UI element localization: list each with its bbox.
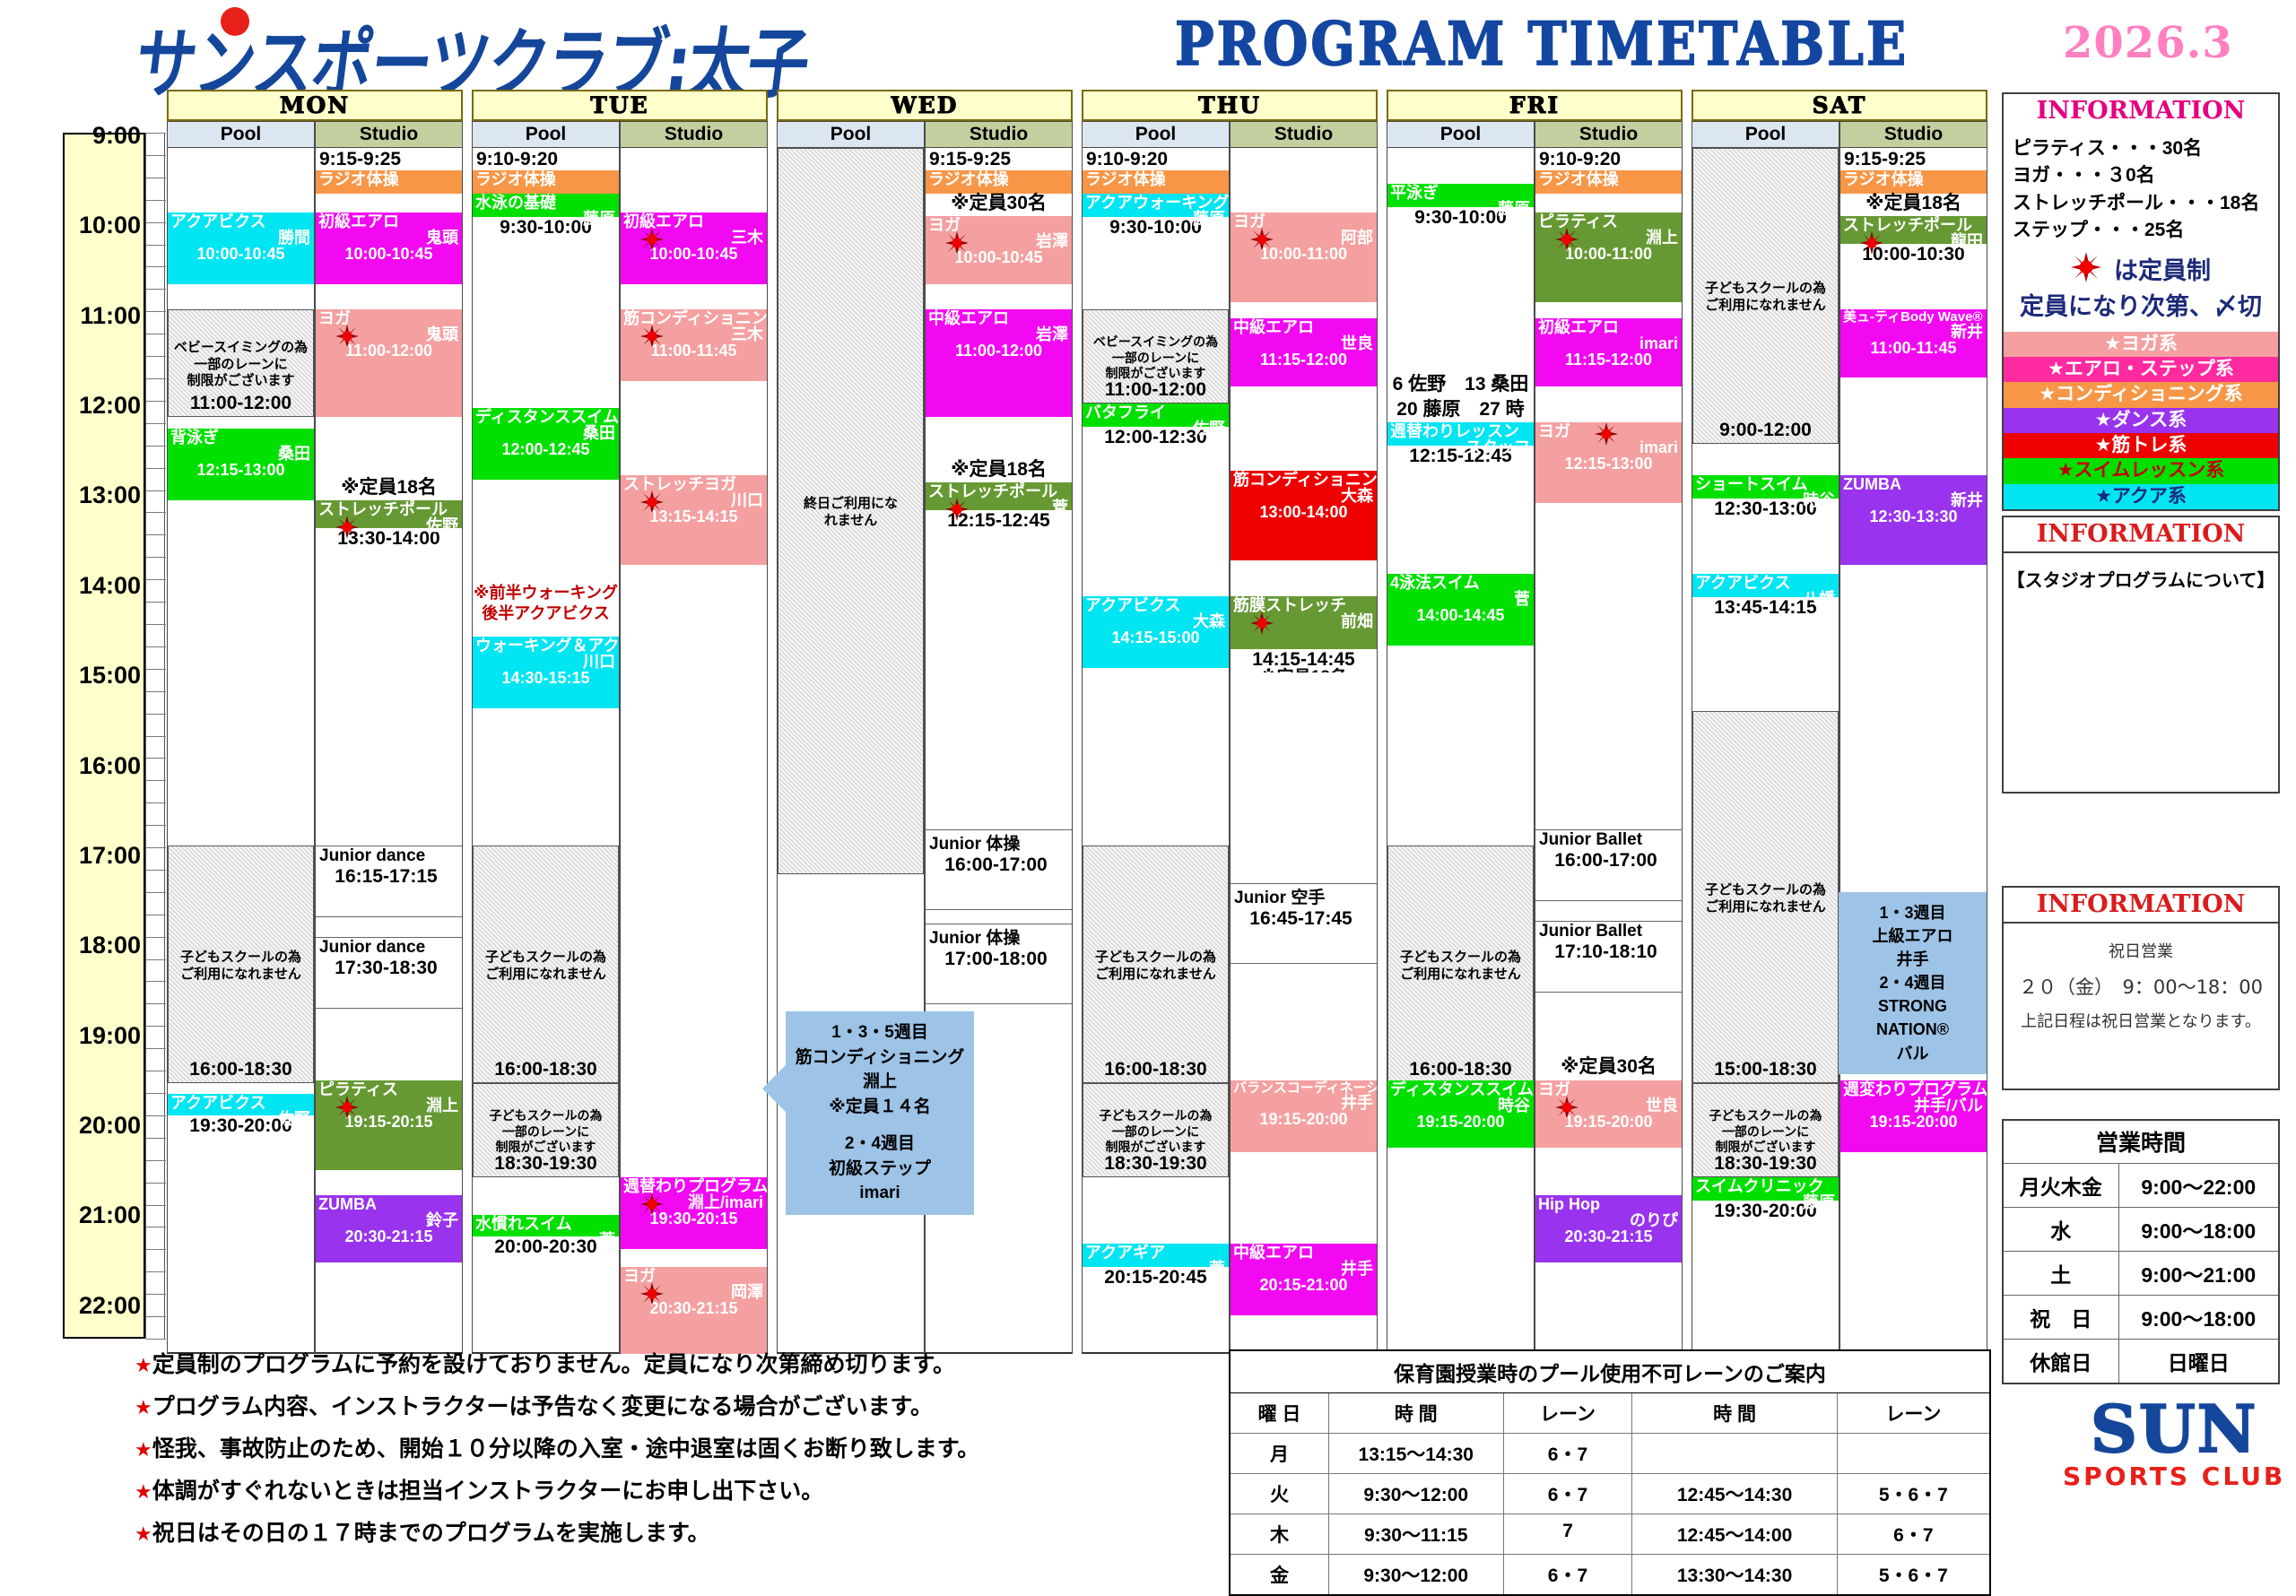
pool-subheader: Pool [1082,121,1230,148]
unavailable-time: 16:00-18:30 [1083,1060,1228,1079]
program-block: ストレッチポール菅12:15-12:45 [926,482,1072,533]
time-tick [146,736,166,737]
program-block: アクアビクス佐野19:30-20:00 [168,1094,314,1139]
sun-mark-icon [2071,252,2101,291]
time-tick [146,468,166,469]
studio-subheader: Studio [620,121,768,148]
hours-days: 月火木金 [2004,1164,2119,1207]
callout-line: imari [791,1181,969,1206]
capacity-sun-icon [640,228,664,251]
program-color-box: 水慣れスイム菅 [473,1215,619,1236]
unavailable-time: 9:00-12:00 [1693,421,1838,439]
program-time: 20:30-21:15 [1535,1228,1682,1245]
program-color-box: ヨガ岩澤10:00-10:45 [926,216,1072,284]
time-tick [146,802,166,803]
time-tick [146,847,166,848]
legend-item: ★ダンス系 [2004,408,2278,433]
lane-table-cell: 5・6・7 [1838,1474,1989,1514]
program-time: 12:30-13:30 [1840,508,1987,525]
lane-table-cell: 6・7 [1504,1474,1633,1514]
capacity-list-item: ストレッチポール・・・18名 [2013,190,2278,217]
callout-line: 淵上 [791,1070,969,1095]
holiday-date-hours: ２０（金） 9：00〜18：00 [2009,968,2273,1006]
time-tick [146,1271,166,1272]
instructor-name: 藤原 [1083,211,1229,227]
program-time: 14:15-15:00 [1083,629,1229,646]
lane-table-cell: 12:45〜14:00 [1632,1514,1837,1554]
program-color-box: アクアビクス勝間10:00-10:45 [168,213,314,284]
time-tick [146,423,166,424]
radio-exercise-time: 9:15-9:25 [926,148,1072,170]
time-tick [146,1160,166,1161]
pool-memo: ※前半ウォーキング 後半アクアビクス [473,583,619,637]
instructor-rotation: 6 佐野 13 桑田20 藤原 27 時谷 [1387,372,1534,422]
info-panel-capacity: INFORMATION ピラティス・・・30名ヨガ・・・３0名ストレッチポール・… [2002,92,2280,511]
instructor-name: 井手 [1231,1261,1377,1277]
legend-item: ★ヨガ系 [2004,332,2278,357]
day-column-mon: MONPoolStudioアクアビクス勝間10:00-10:45ベビースイミング… [167,90,463,1354]
unavailable-time: 18:30-19:30 [1083,1154,1228,1173]
studio-program-note: 【スタジオプログラムについて】 [2004,551,2278,604]
program-color-box: 初級エアロ鬼頭10:00-10:45 [316,213,462,284]
pool-unavailable-block: 子どもスクールの為 ご利用になれません15:00-18:30 [1692,711,1839,1083]
program-name: アクアウォーキング [1083,194,1229,211]
hours-value: 9:00〜18:00 [2119,1208,2278,1251]
capacity-sun-icon [1595,422,1618,446]
instructor-name: 大森 [1083,613,1229,629]
time-label: 20:00 [65,1112,147,1140]
program-block: ピラティス淵上10:00-11:00※定員30名 [1535,213,1682,302]
program-color-box: ストレッチヨガ川口13:15-14:15 [621,475,767,565]
lane-table-cell: 6・7 [1504,1555,1633,1594]
program-color-box: アクアギア菅 [1083,1244,1229,1267]
day-column-fri: FRIPoolStudio平泳ぎ藤原9:30-10:006 佐野 13 桑田20… [1387,90,1683,1354]
instructor-name: 藤原 [1692,1194,1839,1210]
pool-unavailable-block: 終日ご利用にな れません [778,148,924,874]
time-label: 18:00 [65,932,147,959]
day-header: TUE [472,90,768,121]
time-tick [146,669,166,670]
program-time: 11:15-12:00 [1535,351,1682,368]
hours-days: 土 [2004,1252,2119,1295]
program-name: 筋コンディショニング [1231,471,1377,488]
capacity-list: ピラティス・・・30名ヨガ・・・３0名ストレッチポール・・・18名ステップ・・・… [2004,128,2278,248]
program-block: ZUMBA鈴子20:30-21:15 [316,1195,462,1262]
program-block: ディスタンススイム時谷19:15-20:00 [1387,1080,1534,1148]
star-icon: ★ [135,1354,152,1376]
program-block: 美ュ-ティBody Wave®新井11:00-11:45 [1840,309,1987,377]
capacity-note: ※定員18名 [316,475,462,500]
capacity-note: ※定員18名 [1840,191,1987,216]
footer-note: ★定員制のプログラムに予約を設けておりません。定員になり次第締め切ります。 [135,1354,1193,1376]
program-name: 中級エアロ [1231,318,1377,335]
junior-class-time: 17:30-18:30 [316,958,462,979]
star-icon: ★ [135,1438,152,1461]
instructor-name: 井手/バル [1840,1097,1987,1114]
capacity-sun-icon [1555,228,1578,251]
program-block: ラジオ体操 [473,170,619,194]
program-color-box: 初級エアロimari11:15-12:00 [1535,318,1682,386]
program-color-box: ピラティス淵上10:00-11:00 [1535,213,1682,302]
star-icon: ★ [135,1480,152,1503]
lane-table-row: 木9:30〜11:15712:45〜14:006・7 [1231,1514,1989,1554]
lane-table-cell: 13:30〜14:30 [1632,1555,1837,1594]
program-name: ウォーキング＆アクア [473,637,619,654]
unavailable-time: 16:00-18:30 [169,1060,313,1079]
callout-line: 初級ステップ [791,1157,969,1182]
pool-unavailable-block: 子どもスクールの為 一部のレーンに 制限がございます18:30-19:30 [1692,1083,1839,1177]
time-tick [146,624,166,625]
junior-class-time: 16:15-17:15 [316,866,462,888]
pool-unavailable-block: 子どもスクールの為 ご利用になれません16:00-18:30 [168,846,314,1083]
day-header: SAT [1692,90,1987,121]
legend-item: ★コンディショニング系 [2004,382,2278,407]
unavailable-time: 16:00-18:30 [1388,1060,1533,1079]
lane-table-cell: 13:15〜14:30 [1329,1434,1504,1473]
program-color-box: バランスコーディネーション®井手19:15-20:00 [1231,1080,1377,1152]
callout-line: 2・4週目 [1844,971,1981,994]
callout-line: 2・4週目 [791,1132,969,1157]
studio-subheader: Studio [925,121,1073,148]
holiday-footnote: 上記日程は祝日営業となります。 [2009,1006,2273,1038]
info-panel-title: INFORMATION [2004,94,2278,128]
program-color-box: ラジオ体操 [1083,170,1229,194]
capacity-sun-icon [640,490,664,514]
program-name: アクアビクス [168,1094,314,1111]
time-tick [146,1227,166,1227]
hours-value: 9:00〜21:00 [2119,1252,2278,1295]
capacity-rule-line2: 定員になり次第、〆切 [2004,291,2278,324]
program-name: 水泳の基礎 [473,194,619,211]
time-tick [146,1316,166,1317]
program-color-box: ヨガ世良19:15-20:00 [1535,1080,1682,1148]
program-color-box: ラジオ体操 [1535,170,1682,194]
footer-note: ★祝日はその日の１７時までのプログラムを実施します。 [135,1522,1193,1545]
pool-lane-restriction-table: 保育園授業時のプール使用不可レーンのご案内 曜 日時 間レーン時 間レーン月13… [1229,1349,1991,1596]
program-block: アクアビクス大森14:15-15:00 [1083,596,1229,668]
unavailable-note: 子どもスクールの為 ご利用になれません [1388,946,1533,984]
instructor-name: 佐野 [168,1111,314,1127]
program-block: アクアウォーキング藤原9:30-10:00 [1083,194,1229,240]
time-tick [146,155,166,156]
lane-table-cell: 火 [1231,1474,1329,1514]
time-tick [146,557,166,558]
capacity-sun-icon [945,498,969,521]
program-time: 10:00-10:45 [168,246,314,262]
instructor-name: 大森 [1231,488,1377,504]
instructor-name: 川口 [473,654,619,670]
program-block: ストレッチポール佐野13:30-14:00 [316,500,462,551]
lane-table-cell [1838,1434,1989,1473]
program-time: 14:15-14:45 [1231,649,1377,669]
junior-class-block: Junior 空手16:45-17:45 [1231,883,1377,964]
pool-lane: 9:10-9:20ラジオ体操アクアウォーキング藤原9:30-10:00ベビースイ… [1082,148,1230,1354]
program-color-box: ストレッチポール菅 [926,482,1072,510]
program-name: バタフライ [1083,403,1229,421]
program-name: ラジオ体操 [1840,170,1987,187]
lane-table-header: 時 間 [1329,1393,1504,1433]
capacity-rule: は定員制 定員になり次第、〆切 [2004,248,2278,332]
time-tick [146,1249,166,1250]
time-tick [146,937,166,938]
program-name: ZUMBA [316,1195,462,1212]
instructor-name: 菅 [473,1232,619,1248]
capacity-sun-icon [945,231,969,255]
studio-subheader: Studio [1230,121,1378,148]
footer-note: ★怪我、事故防止のため、開始１０分以降の入室・途中退室は固くお断り致します。 [135,1438,1193,1461]
program-name: 週変わりプログラム [1840,1080,1987,1097]
lane-table-cell: 6・7 [1504,1434,1633,1473]
lane-table-header: レーン [1504,1393,1633,1433]
issue-date: 2026.3 [2063,18,2233,68]
program-color-box: ZUMBA鈴子20:30-21:15 [316,1195,462,1262]
time-tick-column [145,133,165,1339]
junior-class-name: Junior 体操 [926,924,1072,949]
time-tick [146,1003,166,1004]
studio-lane: ヨガ阿部10:00-11:00※定員30名中級エアロ世良11:15-12:00筋… [1230,148,1378,1354]
program-name: ZUMBA [1840,475,1987,492]
hours-value: 9:00〜18:00 [2119,1296,2278,1339]
lane-table-cell: 7 [1504,1514,1633,1554]
junior-class-block: Junior 体操16:00-17:00 [926,829,1072,910]
time-label: 13:00 [65,481,147,509]
lane-table-body: 曜 日時 間レーン時 間レーン月13:15〜14:306・7 火9:30〜12:… [1231,1393,1989,1594]
program-block: 筋コンディショニング三木11:00-11:45 [621,309,767,381]
program-time: 14:00-14:45 [1387,607,1534,623]
capacity-note: ※定員18名 [926,457,1072,482]
pool-subheader: Pool [1387,121,1535,148]
program-name: スイムクリニック [1692,1177,1839,1194]
program-color-box: ラジオ体操 [316,170,462,194]
instructor-name: 世良 [1231,335,1377,351]
program-block: 初級エアロ鬼頭10:00-10:45 [316,213,462,284]
program-color-box: 水泳の基礎藤原 [473,194,619,217]
unavailable-time: 11:00-12:00 [1083,380,1228,399]
program-block: Hip Hopのりぴ20:30-21:15 [1535,1195,1682,1262]
day-column-sat: SATPoolStudio子どもスクールの為 ご利用になれません9:00-12:… [1692,90,1987,1354]
time-tick [146,178,166,178]
program-name: 週替わりレッスン [1387,422,1534,439]
time-tick [146,200,166,201]
time-tick [146,1026,166,1027]
time-label: 12:00 [65,392,147,420]
junior-class-time: 16:45-17:45 [1231,908,1377,930]
program-block: 平泳ぎ藤原9:30-10:00 [1387,184,1534,230]
footer-note: ★体調がすぐれないときは担当インストラクターにお申し出下さい。 [135,1480,1193,1503]
time-tick [146,646,166,647]
program-name: ラジオ体操 [1083,170,1229,187]
program-name: ラジオ体操 [926,170,1072,187]
program-time: 12:15-13:00 [168,462,314,478]
program-color-box: ヨガ阿部10:00-11:00 [1231,213,1377,302]
program-color-box: ヨガ鬼頭11:00-12:00 [316,309,462,417]
callout-line: 1・3・5週目 [791,1020,969,1045]
callout-line: 井手 [1844,948,1981,971]
program-color-box: 筋コンディショニング大森13:00-14:00 [1231,471,1377,560]
program-block: ラジオ体操 [1083,170,1229,194]
time-tick [146,266,166,267]
time-label: 9:00 [65,122,147,150]
program-name: アクアビクス [1692,574,1839,591]
category-legend: ★ヨガ系★エアロ・ステップ系★コンディショニング系★ダンス系★筋トレ系★スイムレ… [2004,332,2278,509]
unavailable-note: 子どもスクールの為 ご利用になれません [1083,946,1228,984]
info-panel-title: INFORMATION [2004,888,2278,922]
day-header: WED [777,90,1073,121]
logo-line-1: SUN [2063,1399,2285,1460]
junior-class-name: Junior dance [316,846,462,866]
capacity-note: ※定員30名 [1535,1054,1682,1080]
pool-subheader: Pool [167,121,315,148]
hours-value: 9:00〜22:00 [2119,1164,2278,1207]
page-title: PROGRAM TIMETABLE [1175,9,1909,79]
program-time: 20:15-21:00 [1231,1277,1377,1293]
junior-class-block: Junior 体操17:00-18:00 [926,924,1072,1004]
time-tick [146,1183,166,1184]
program-block: ヨガ世良19:15-20:00 [1535,1080,1682,1148]
capacity-sun-icon [1250,612,1274,635]
pool-unavailable-block: 子どもスクールの為 ご利用になれません16:00-18:30 [473,846,619,1083]
business-hours-row: 祝 日9:00〜18:00 [2004,1295,2278,1339]
unavailable-note: 子どもスクールの為 一部のレーンに 制限がございます [474,1105,618,1156]
program-color-box: 週変わりプログラム井手/バル19:15-20:00 [1840,1080,1987,1152]
program-name: アクアビクス [168,213,314,230]
program-color-box: 週替わりプログラム淵上/imari19:30-20:15 [621,1177,767,1249]
page-header: サンスポーツクラブ:太子 PROGRAM TIMETABLE 2026.3 [0,0,2296,94]
time-tick [146,1093,166,1094]
studio-subheader: Studio [315,121,463,148]
instructor-name: 桑田 [168,446,314,462]
program-block: ストレッチポール龍田10:00-10:30 [1840,216,1987,267]
capacity-sun-icon [1555,1096,1578,1119]
time-label: 11:00 [65,302,147,330]
studio-lane: 9:15-9:25ラジオ体操※定員18名ストレッチポール龍田10:00-10:3… [1839,148,1987,1354]
program-name: ラジオ体操 [1535,170,1682,187]
program-color-box: 初級エアロ三木10:00-10:45 [621,213,767,284]
program-block: ディスタンススイム桑田12:00-12:45 [473,408,619,480]
radio-exercise-time: 9:15-9:25 [1840,148,1987,170]
unavailable-time: 16:00-18:30 [474,1060,618,1079]
program-time: 19:15-20:00 [1840,1114,1987,1130]
instructor-name: 菅 [1083,1261,1229,1277]
program-block: ラジオ体操 [1535,170,1682,194]
program-name: 中級エアロ [926,309,1072,326]
program-time: 11:00-12:00 [926,343,1072,359]
instructor-name: 岩澤 [926,326,1072,343]
instructor-name: 藤原 [1387,201,1534,217]
pool-lane: 9:10-9:20ラジオ体操水泳の基礎藤原9:30-10:00ディスタンススイム… [472,148,620,1354]
legend-item: ★スイムレッスン系 [2004,458,2278,483]
lane-table-row: 火9:30〜12:006・712:45〜14:305・6・7 [1231,1473,1989,1514]
time-tick [146,401,166,402]
junior-class-block: Junior dance16:15-17:15 [316,846,462,917]
unavailable-note: 終日ご利用にな れません [778,492,923,530]
program-color-box: ヨガ岡澤20:30-21:15 [621,1267,767,1354]
star-icon: ★ [135,1396,152,1418]
business-hours-row: 休館日日曜日 [2004,1339,2278,1383]
instructor-name: 新井 [1840,324,1987,340]
unavailable-time: 18:30-19:30 [1693,1154,1838,1173]
time-label: 21:00 [65,1201,147,1229]
capacity-sun-icon [1250,228,1274,251]
program-block: 中級エアロ井手20:15-21:00 [1231,1244,1377,1315]
program-name: ラジオ体操 [316,170,462,187]
program-time: 14:30-15:15 [473,670,619,686]
time-tick [146,1071,166,1071]
junior-class-name: Junior Ballet [1535,830,1682,850]
radio-exercise-time: 9:10-9:20 [1535,148,1682,170]
info-panel-studio: INFORMATION 【スタジオプログラムについて】 [2002,516,2280,794]
program-block: 水泳の基礎藤原9:30-10:00 [473,194,619,240]
radio-exercise-time: 9:10-9:20 [473,148,619,170]
time-label: 22:00 [65,1292,147,1320]
time-tick [146,334,166,334]
callout-line: 1・3週目 [1844,901,1981,924]
program-color-box: アクアウォーキング藤原 [1083,194,1229,217]
callout-line: 筋コンディショニング [791,1045,969,1071]
pool-subheader: Pool [777,121,925,148]
program-block: 背泳ぎ桑田12:15-13:00 [168,429,314,500]
instructor-name: 佐野 [1083,421,1229,437]
lane-table-cell: 9:30〜12:00 [1329,1474,1504,1514]
time-tick [146,959,166,960]
program-time: 20:30-21:15 [316,1228,462,1245]
capacity-sun-icon [335,1096,359,1119]
capacity-rule-line1: は定員制 [2114,256,2211,288]
program-name: ディスタンススイム [473,408,619,425]
pool-unavailable-block: 子どもスクールの為 一部のレーンに 制限がございます18:30-19:30 [473,1083,619,1177]
program-block: 初級エアロimari11:15-12:00 [1535,318,1682,386]
junior-class-time: 17:10-18:10 [1535,941,1682,963]
program-color-box: ピラティス淵上19:15-20:15 [316,1080,462,1170]
pool-subheader: Pool [1692,121,1839,148]
program-name: 4泳法スイム [1387,574,1534,591]
time-tick [146,691,166,692]
time-tick [146,892,166,893]
time-tick [146,133,166,134]
time-axis: 9:0010:0011:0012:0013:0014:0015:0016:001… [63,133,145,1339]
time-tick [146,245,166,246]
time-tick [146,1339,166,1340]
time-tick [146,1294,166,1295]
program-block: 週変わりプログラム井手/バル19:15-20:00 [1840,1080,1987,1152]
junior-class-block: Junior Ballet17:10-18:10 [1535,921,1682,993]
pool-subheader: Pool [472,121,620,148]
time-tick [146,534,166,535]
program-block: アクアビクス勝間10:00-10:45 [168,213,314,284]
lane-table-cell: 9:30〜12:00 [1329,1555,1504,1594]
time-tick [146,915,166,915]
instructor-name: 勝間 [168,230,314,246]
lane-table-row: 金9:30〜12:006・713:30〜14:305・6・7 [1231,1554,1989,1594]
lane-table-cell: 5・6・7 [1838,1555,1989,1594]
instructor-name: のりぴ [1535,1212,1682,1228]
studio-lane: 9:15-9:25ラジオ体操初級エアロ鬼頭10:00-10:45ヨガ鬼頭11:0… [315,148,463,1354]
time-tick [146,825,166,826]
lane-table-title: 保育園授業時のプール使用不可レーンのご案内 [1231,1351,1989,1393]
lane-table-cell: 月 [1231,1434,1329,1473]
program-block: 4泳法スイム菅14:00-14:45 [1387,574,1534,646]
star-icon: ★ [135,1522,152,1545]
program-color-box: ストレッチポール佐野 [316,500,462,528]
unavailable-note: 子どもスクールの為 ご利用になれません [169,946,313,984]
time-tick [146,356,166,357]
legend-item: ★アクア系 [2004,484,2278,509]
program-color-box: 4泳法スイム菅14:00-14:45 [1387,574,1534,646]
radio-exercise-time: 9:15-9:25 [316,148,462,170]
lane-table-cell: 9:30〜11:15 [1329,1514,1504,1554]
program-block: 週替わりレッスンスタッフ12:15-12:45 [1387,422,1534,469]
program-time: 19:15-20:00 [1387,1114,1534,1130]
